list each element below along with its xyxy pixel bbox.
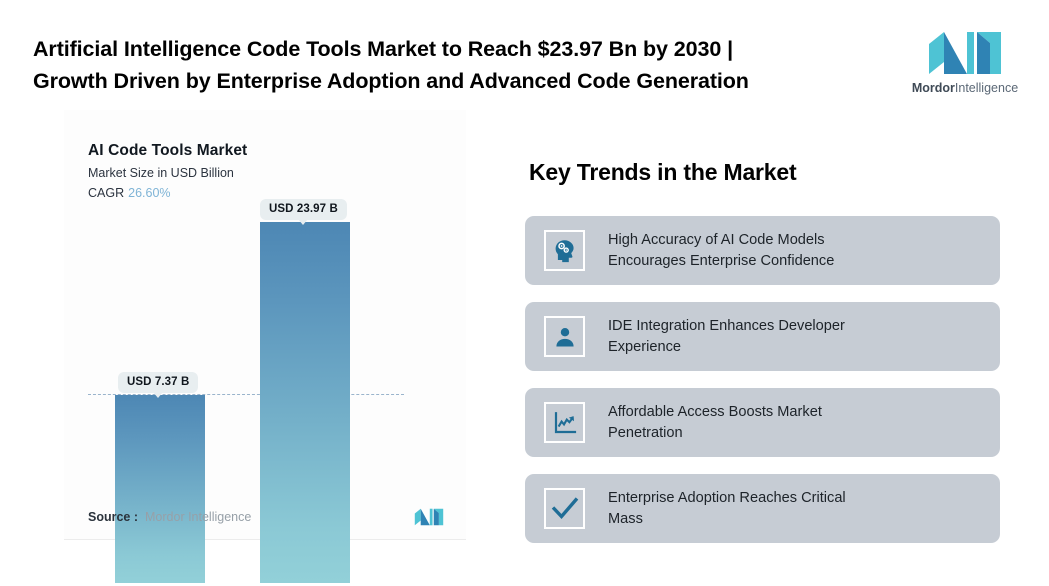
headline-line-1: Artificial Intelligence Code Tools Marke… <box>33 33 878 65</box>
trend-card-3[interactable]: Affordable Access Boosts Market Penetrat… <box>525 388 1000 457</box>
trend-card-4-line-1: Enterprise Adoption Reaches Critical <box>608 488 846 509</box>
checkmark-icon <box>544 488 585 529</box>
bar-value-label-2030: USD 23.97 B <box>260 199 347 220</box>
head-gears-icon <box>544 230 585 271</box>
person-icon <box>544 316 585 357</box>
trend-card-3-text: Affordable Access Boosts Market Penetrat… <box>608 402 836 444</box>
brand-word-light: Intelligence <box>955 81 1018 95</box>
source-label: Source : <box>88 510 138 524</box>
trend-card-2-text: IDE Integration Enhances Developer Exper… <box>608 316 859 358</box>
trend-card-4[interactable]: Enterprise Adoption Reaches Critical Mas… <box>525 474 1000 543</box>
source-value: Mordor Intelligence <box>145 510 251 524</box>
trend-card-2-line-2: Experience <box>608 337 845 358</box>
infographic-page: Artificial Intelligence Code Tools Marke… <box>0 0 1049 586</box>
mordor-mark-icon <box>414 507 444 527</box>
trend-card-2[interactable]: IDE Integration Enhances Developer Exper… <box>525 302 1000 371</box>
bar-value-label-2025: USD 7.37 B <box>118 372 198 393</box>
trend-card-1-line-1: High Accuracy of AI Code Models <box>608 230 834 251</box>
trend-card-3-line-1: Affordable Access Boosts Market <box>608 402 822 423</box>
trend-card-1[interactable]: High Accuracy of AI Code Models Encourag… <box>525 216 1000 285</box>
trend-card-2-line-1: IDE Integration Enhances Developer <box>608 316 845 337</box>
chart-panel: AI Code Tools Market Market Size in USD … <box>64 110 466 540</box>
trend-card-1-line-2: Encourages Enterprise Confidence <box>608 251 834 272</box>
trends-card-list: High Accuracy of AI Code Models Encourag… <box>525 216 1000 560</box>
growth-chart-icon <box>544 402 585 443</box>
trends-heading: Key Trends in the Market <box>529 159 796 186</box>
bar-chart-plot: USD 7.37 B USD 23.97 B 2025 2030 <box>64 110 466 540</box>
headline-line-2: Growth Driven by Enterprise Adoption and… <box>33 65 878 97</box>
source-row: Source : Mordor Intelligence <box>88 502 444 532</box>
trend-card-3-line-2: Penetration <box>608 423 822 444</box>
trend-card-4-line-2: Mass <box>608 509 846 530</box>
bar-2025 <box>115 395 205 583</box>
brand-logo: MordorIntelligence <box>905 30 1025 105</box>
page-title: Artificial Intelligence Code Tools Marke… <box>33 33 878 97</box>
trend-card-4-text: Enterprise Adoption Reaches Critical Mas… <box>608 488 860 530</box>
mordor-intelligence-logo-icon <box>927 30 1003 76</box>
brand-word-bold: Mordor <box>912 81 955 95</box>
brand-wordmark: MordorIntelligence <box>912 81 1018 95</box>
trend-card-1-text: High Accuracy of AI Code Models Encourag… <box>608 230 848 272</box>
